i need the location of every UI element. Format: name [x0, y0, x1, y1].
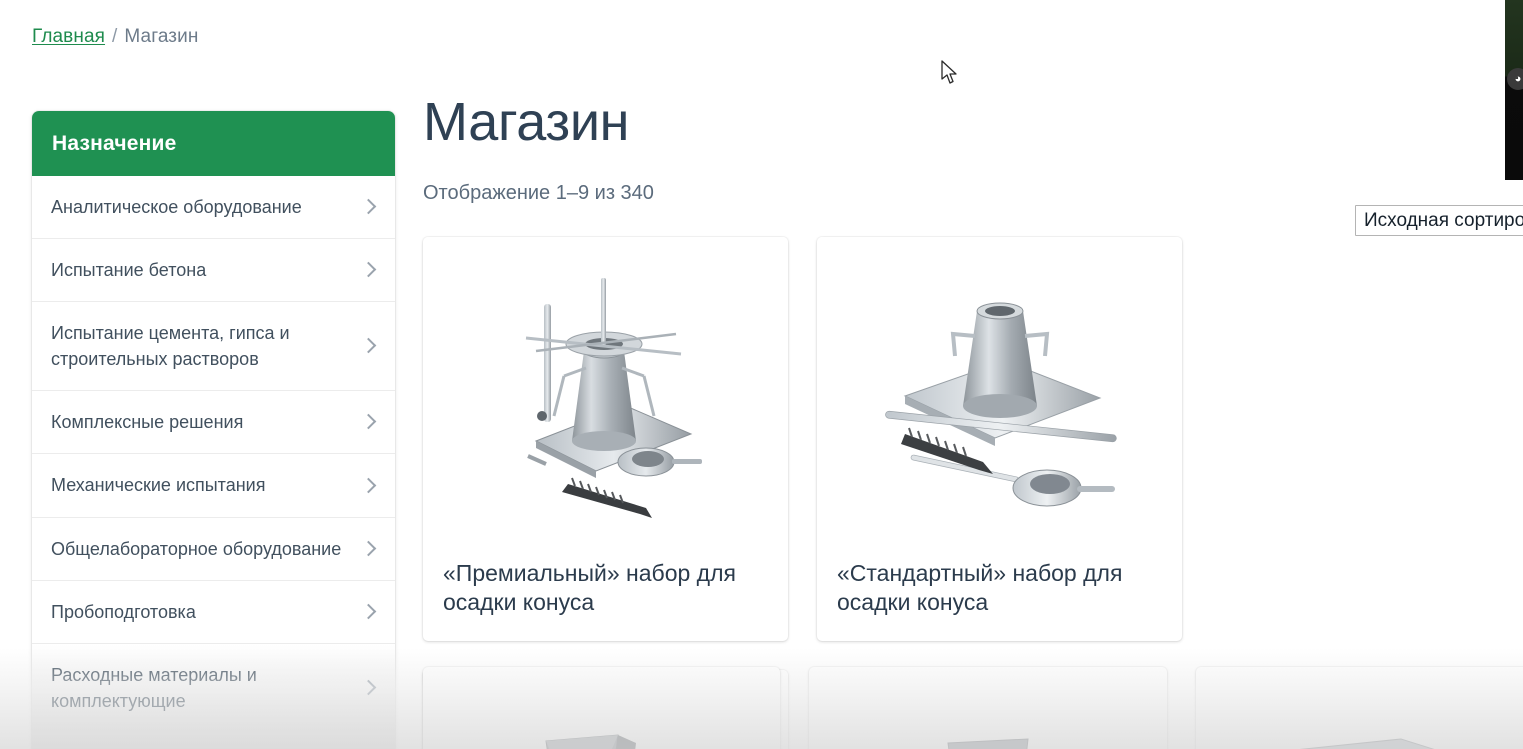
- result-count: Отображение 1–9 из 340: [423, 182, 1523, 205]
- chevron-right-icon: [362, 539, 375, 559]
- sidebar-item-sample-preparation[interactable]: Пробоподготовка: [32, 580, 395, 643]
- sidebar-item-label: Механические испытания: [51, 472, 271, 498]
- chevron-right-icon: [362, 602, 375, 622]
- sidebar-item-analytical-equipment[interactable]: Аналитическое оборудование: [32, 176, 395, 238]
- breadcrumb-current: Магазин: [124, 26, 198, 47]
- sidebar-list: Аналитическое оборудование Испытание бет…: [32, 176, 395, 749]
- chevron-right-icon: [362, 476, 375, 496]
- sidebar-item-label: Аналитическое оборудование: [51, 194, 308, 220]
- sidebar-item-label: Испытание цемента, гипса и строительных …: [51, 320, 351, 372]
- sidebar-item-label: Испытание бетона: [51, 257, 212, 283]
- sidebar-item-concrete-testing[interactable]: Испытание бетона: [32, 238, 395, 301]
- main-header: Магазин Отображение 1–9 из 340: [423, 95, 1523, 205]
- product-card[interactable]: «Премиальный» набор для осадки конуса: [423, 237, 788, 641]
- chevron-right-icon: [362, 336, 375, 356]
- product-card[interactable]: [809, 667, 1166, 749]
- product-card[interactable]: [423, 667, 780, 749]
- metal-mold-image-1: [502, 713, 702, 749]
- sort-select[interactable]: Исходная сортиров: [1355, 205, 1523, 236]
- product-grid-row-2: [423, 667, 1523, 749]
- slump-cone-premium-set-image: [423, 237, 788, 555]
- sidebar-item-label: Общелабораторное оборудование: [51, 536, 347, 562]
- breadcrumb: Главная/Магазин: [32, 26, 198, 48]
- chevron-right-icon: [362, 412, 375, 432]
- product-card[interactable]: [1196, 667, 1523, 749]
- metal-tray-image-3: [1259, 713, 1489, 749]
- page-title: Магазин: [423, 95, 1523, 149]
- chevron-right-icon: [362, 197, 375, 217]
- product-title: «Премиальный» набор для осадки конуса: [423, 555, 788, 627]
- sidebar-item-complex-solutions[interactable]: Комплексные решения: [32, 390, 395, 453]
- chevron-right-icon: [362, 678, 375, 698]
- sidebar-item-cement-gypsum-mortar-testing[interactable]: Испытание цемента, гипса и строительных …: [32, 301, 395, 390]
- sidebar-item-consumables-and-components[interactable]: Расходные материалы и комплектующие: [32, 643, 395, 749]
- sidebar-header: Назначение: [32, 111, 395, 176]
- metal-mold-image-2: [888, 713, 1088, 749]
- breadcrumb-separator: /: [105, 26, 124, 47]
- slump-cone-standard-set-image: [817, 237, 1182, 555]
- sidebar-item-general-lab-equipment[interactable]: Общелабораторное оборудование: [32, 517, 395, 580]
- edge-widget-avatar-icon[interactable]: ◕: [1507, 68, 1523, 90]
- sidebar-item-label: Пробоподготовка: [51, 599, 202, 625]
- right-edge-widget[interactable]: ◕ ◕: [1505, 0, 1523, 180]
- product-title: «Стандартный» набор для осадки конуса: [817, 555, 1182, 627]
- category-sidebar: Назначение Аналитическое оборудование Ис…: [32, 111, 395, 749]
- shop-page: Главная/Магазин Назначение Аналитическое…: [0, 0, 1523, 749]
- product-card[interactable]: «Стандартный» набор для осадки конуса: [817, 237, 1182, 641]
- sidebar-item-label: Комплексные решения: [51, 409, 249, 435]
- sidebar-item-mechanical-testing[interactable]: Механические испытания: [32, 453, 395, 516]
- chevron-right-icon: [362, 260, 375, 280]
- sidebar-item-label: Расходные материалы и комплектующие: [51, 662, 351, 714]
- breadcrumb-home-link[interactable]: Главная: [32, 26, 105, 47]
- mouse-pointer-icon: [941, 60, 959, 85]
